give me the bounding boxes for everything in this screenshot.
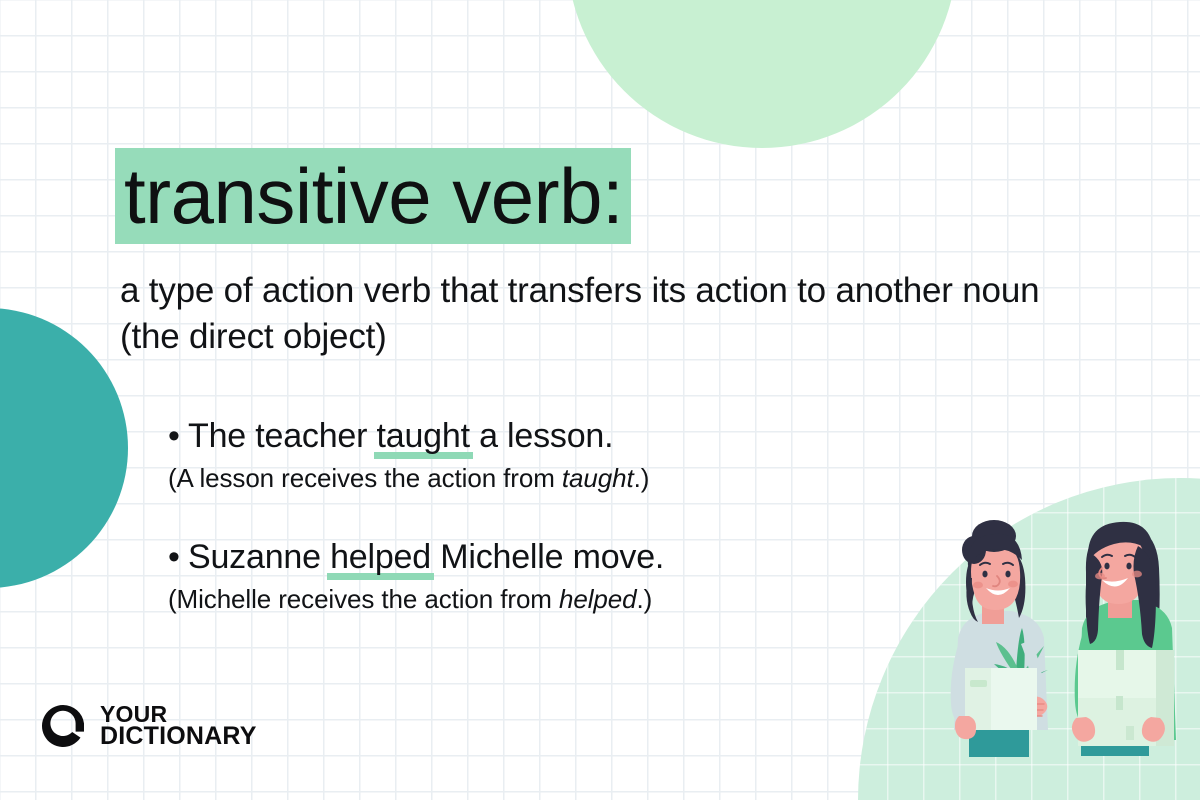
example-item: •The teacher taught a lesson. (A lesson …: [168, 414, 649, 495]
example-sentence-after: Michelle move.: [431, 538, 664, 576]
term-heading-wrapper: transitive verb:: [115, 148, 631, 244]
example-verb-underlined: taught: [377, 414, 470, 458]
example-item: •Suzanne helped Michelle move. (Michelle…: [168, 535, 664, 616]
example-sentence-before: The teacher: [188, 417, 377, 455]
explanation-after: .): [634, 463, 650, 493]
bullet-icon: •: [168, 414, 188, 458]
brand-logo[interactable]: YOUR DICTIONARY: [40, 703, 257, 749]
explanation-verb-italic: taught: [562, 463, 634, 493]
infographic-canvas: transitive verb: a type of action verb t…: [0, 0, 1200, 800]
example-sentence: •Suzanne helped Michelle move.: [168, 535, 664, 579]
bullet-icon: •: [168, 535, 188, 579]
example-sentence-before: Suzanne: [188, 538, 330, 576]
explanation-verb-italic: helped: [559, 584, 636, 614]
example-explanation: (Michelle receives the action from helpe…: [168, 582, 664, 616]
q-ring-icon: [40, 703, 86, 749]
explanation-after: .): [636, 584, 652, 614]
definition-text: a type of action verb that transfers its…: [120, 268, 1090, 360]
logo-line-dictionary: DICTIONARY: [100, 725, 257, 748]
explanation-before: (Michelle receives the action from: [168, 584, 559, 614]
logo-wordmark: YOUR DICTIONARY: [100, 704, 257, 748]
explanation-before: (A lesson receives the action from: [168, 463, 562, 493]
example-verb-underlined: helped: [330, 535, 431, 579]
example-explanation: (A lesson receives the action from taugh…: [168, 461, 649, 495]
content-layer: transitive verb: a type of action verb t…: [0, 0, 1200, 800]
example-sentence-after: a lesson.: [470, 417, 614, 455]
example-sentence: •The teacher taught a lesson.: [168, 414, 649, 458]
page-title: transitive verb:: [115, 148, 631, 244]
